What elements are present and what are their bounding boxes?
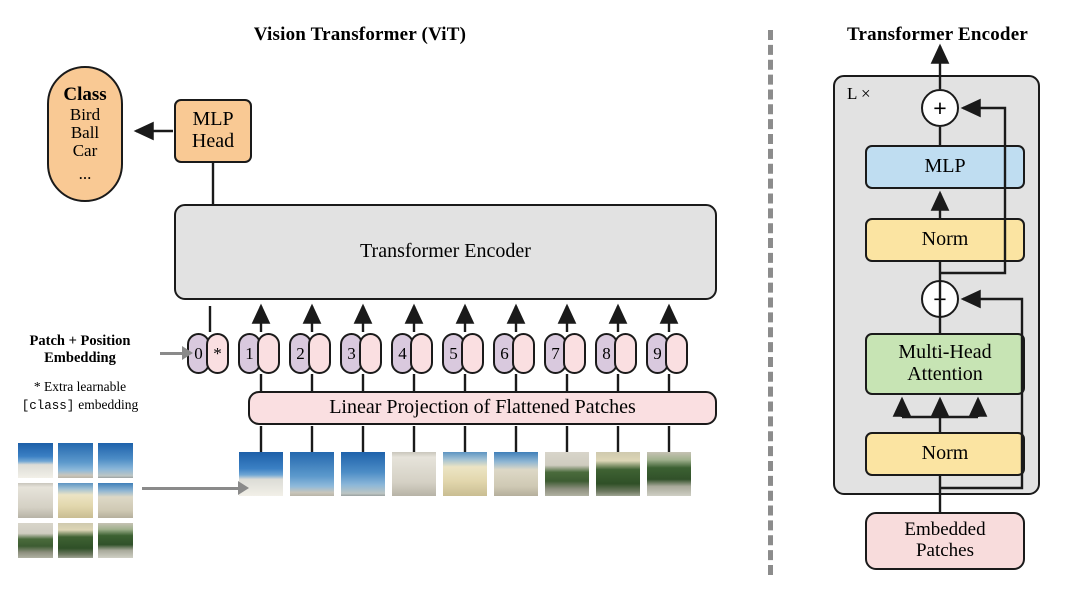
class-item-1: Ball: [71, 124, 99, 142]
footnote-suffix: embedding: [78, 397, 138, 412]
mha-label-line1: Multi-Head: [898, 342, 991, 364]
source-patch-ground-hedge: [58, 523, 93, 558]
token-6: 6: [493, 333, 535, 374]
embedding-label-line1: Patch + Position: [6, 333, 154, 350]
token-3-position-pill: [359, 333, 382, 374]
source-image-patch-grid: [18, 443, 134, 559]
repeat-count-label: L ×: [847, 85, 871, 103]
token-4-position-pill: [410, 333, 433, 374]
token-1-position-pill: [257, 333, 280, 374]
embedded-patches-line2: Patches: [916, 541, 974, 562]
token-7-position-pill: [563, 333, 586, 374]
token-8: 8: [595, 333, 637, 374]
sequence-patch-facade-tower: [494, 452, 538, 496]
source-patch-facade-tower: [98, 483, 133, 518]
sequence-patch-facade-mid: [443, 452, 487, 496]
grid-to-sequence-arrow-line: [142, 487, 238, 490]
encoder-mlp-label: MLP: [924, 156, 965, 178]
sequence-patch-ground-cars: [545, 452, 589, 496]
sequence-patch-sky-clouds: [341, 452, 385, 496]
class-item-0: Bird: [70, 106, 100, 124]
class-embedding-footnote: * Extra learnable [class]embedding: [4, 378, 156, 414]
token-9: 9: [646, 333, 688, 374]
token-0-position-pill: *: [206, 333, 229, 374]
vit-architecture-figure: Vision Transformer (ViT) Transformer Enc…: [0, 0, 1080, 593]
token-3: 3: [340, 333, 382, 374]
class-heading: Class: [63, 85, 106, 106]
token-6-position-pill: [512, 333, 535, 374]
source-patch-sky-clouds: [98, 443, 133, 478]
encoder-multi-head-attention-block: Multi-Head Attention: [865, 333, 1025, 395]
encoder-norm-upper-label: Norm: [922, 229, 969, 251]
embedded-patches-line1: Embedded: [904, 520, 985, 541]
source-patch-facade-left: [18, 483, 53, 518]
residual-add-node-top: +: [921, 89, 959, 127]
mlp-head-box: MLP Head: [174, 99, 252, 163]
mlp-head-line2: Head: [192, 131, 234, 153]
class-ellipsis: ...: [79, 165, 92, 183]
sequence-patch-facade-left: [392, 452, 436, 496]
source-patch-sky-tower: [58, 443, 93, 478]
token-8-position-pill: [614, 333, 637, 374]
footnote-line1: * Extra learnable: [4, 378, 156, 396]
transformer-encoder-label: Transformer Encoder: [360, 241, 531, 263]
plus-symbol-bottom: +: [933, 288, 946, 311]
footnote-mono-token: [class]: [22, 399, 75, 413]
token-2: 2: [289, 333, 331, 374]
residual-add-node-bottom: +: [921, 280, 959, 318]
right-panel-title: Transformer Encoder: [800, 24, 1075, 46]
token-0: 0*: [187, 333, 229, 374]
token-5-position-pill: [461, 333, 484, 374]
class-output-box: Class Bird Ball Car ...: [47, 66, 123, 202]
token-5: 5: [442, 333, 484, 374]
token-9-position-pill: [665, 333, 688, 374]
sequence-patch-ground-hedge: [596, 452, 640, 496]
class-item-2: Car: [73, 142, 98, 160]
linear-projection-box: Linear Projection of Flattened Patches: [248, 391, 717, 425]
source-patch-facade-mid: [58, 483, 93, 518]
sequence-patch-ground-path: [647, 452, 691, 496]
footnote-line2: [class]embedding: [4, 396, 156, 414]
embedding-annotation-arrow-head: [182, 346, 193, 360]
source-patch-ground-path: [98, 523, 133, 558]
source-patch-ground-cars: [18, 523, 53, 558]
mlp-head-line1: MLP: [192, 109, 233, 131]
grid-to-sequence-arrow-head: [238, 481, 249, 495]
mha-label-line2: Attention: [907, 364, 983, 386]
patch-position-embedding-label: Patch + Position Embedding: [6, 333, 154, 367]
embedding-label-line2: Embedding: [6, 350, 154, 367]
encoder-mlp-block: MLP: [865, 145, 1025, 189]
sequence-patch-sky-tower: [290, 452, 334, 496]
left-panel-title: Vision Transformer (ViT): [120, 24, 600, 46]
embedded-patches-box: Embedded Patches: [865, 512, 1025, 570]
encoder-norm-lower-label: Norm: [922, 443, 969, 465]
transformer-encoder-box: Transformer Encoder: [174, 204, 717, 300]
encoder-norm-block-lower: Norm: [865, 432, 1025, 476]
plus-symbol-top: +: [933, 97, 946, 120]
embedding-annotation-arrow-line: [160, 352, 182, 355]
linear-projection-label: Linear Projection of Flattened Patches: [329, 397, 636, 419]
encoder-norm-block-upper: Norm: [865, 218, 1025, 262]
token-2-position-pill: [308, 333, 331, 374]
token-1: 1: [238, 333, 280, 374]
panel-divider: [768, 30, 773, 575]
token-4: 4: [391, 333, 433, 374]
token-7: 7: [544, 333, 586, 374]
source-patch-sky-dome: [18, 443, 53, 478]
